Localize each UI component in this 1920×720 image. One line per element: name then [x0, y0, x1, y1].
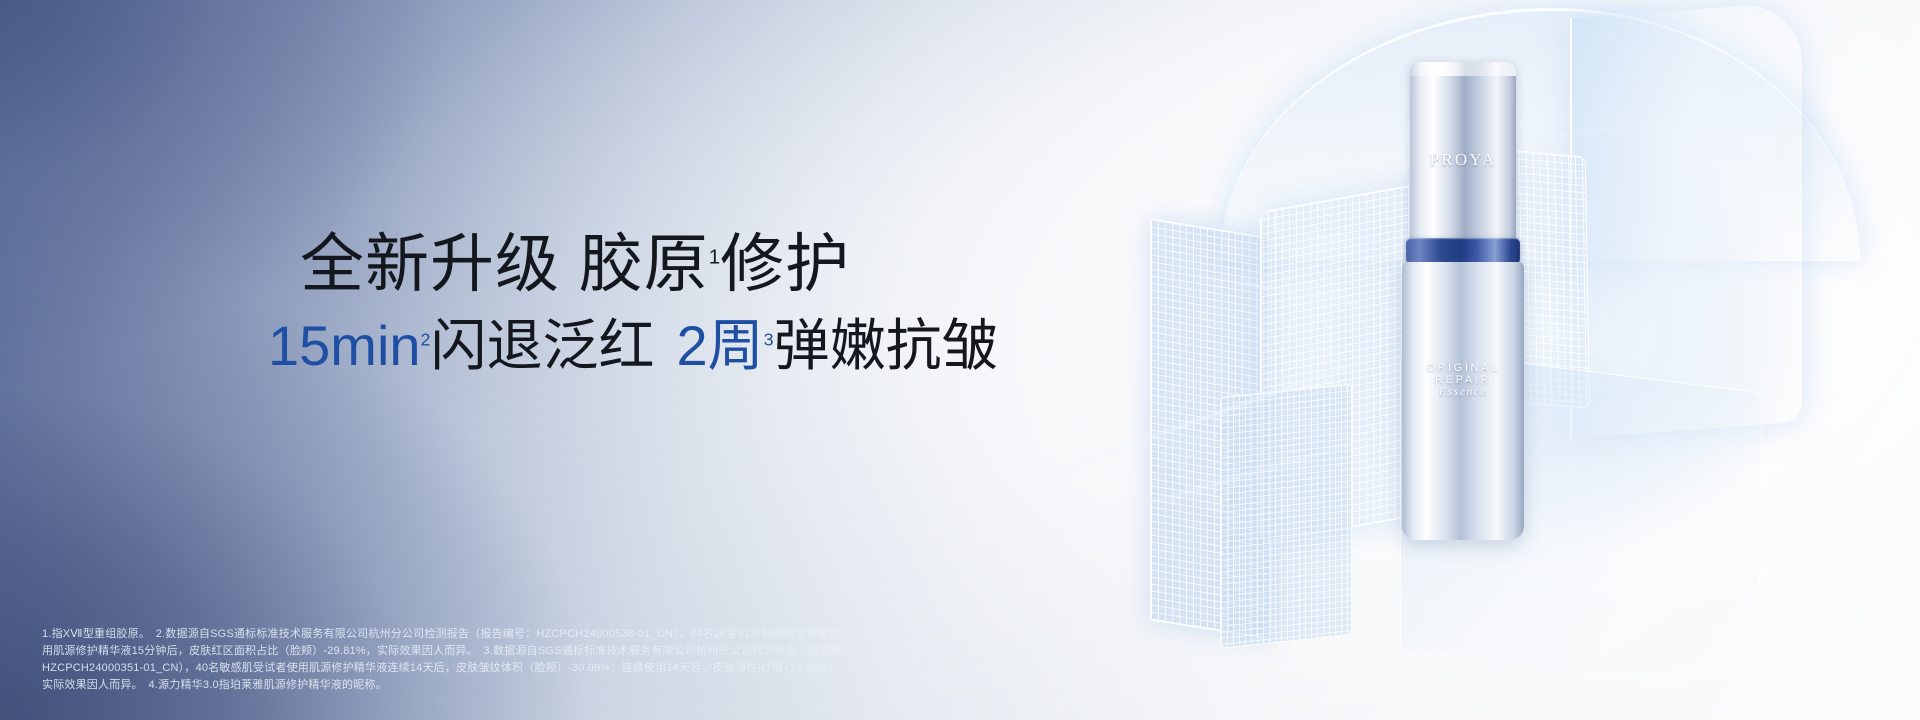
light-halo — [1220, 40, 1880, 680]
bottle-collar-band — [1406, 238, 1520, 264]
product-type-label: Essence — [1402, 384, 1524, 399]
headline-part-2: 修护 — [720, 228, 850, 300]
copy-block: 全新升级 胶原1修护 15min2闪退泛红2周3弹嫩抗皱 — [300, 232, 1100, 374]
headline-footnote-marker-1: 1 — [709, 246, 720, 269]
glass-arc-top — [1220, 8, 1860, 261]
glass-plate-lower-right — [1400, 348, 1762, 694]
mesh-ribbon-mid — [1260, 180, 1438, 543]
headline: 全新升级 胶原1修护 — [300, 232, 1100, 296]
subheadline-text-1: 闪退泛红 — [431, 314, 655, 377]
subheadline-text-2: 弹嫩抗皱 — [774, 314, 998, 377]
light-streak — [991, 393, 1530, 549]
light-streak — [1241, 113, 1758, 169]
subheadline-footnote-marker-2: 2 — [421, 329, 431, 349]
footnote-line-3: HZCPCH24000351-01_CN），40名敏感肌受试者使用肌源修护精华液… — [42, 660, 1102, 677]
bottle-cap-highlight — [1410, 62, 1516, 76]
footnote-line-2: 用肌源修护精华液15分钟后，皮肤红区面积占比（脸颊）-29.81%，实际效果因人… — [42, 643, 1102, 660]
promo-banner: PROYA ORIGINAL REPAIR Essence 全新升级 胶原1修护… — [0, 0, 1920, 720]
mesh-ribbon-left — [1150, 218, 1272, 639]
subheadline-accent-2: 2周 — [677, 314, 764, 377]
mesh-ribbon-upper — [1434, 143, 1590, 409]
subheadline: 15min2闪退泛红2周3弹嫩抗皱 — [268, 318, 1100, 374]
footnote-line-4: 实际效果因人而异。 4.源力精华3.0指珀莱雅肌源修护精华液的昵称。 — [42, 677, 1102, 694]
product-line-label: ORIGINAL REPAIR — [1402, 362, 1524, 386]
product-bottle: PROYA ORIGINAL REPAIR Essence — [1400, 62, 1526, 540]
footnotes-block: 1.指XⅦ型重组胶原。 2.数据源自SGS通标标准技术服务有限公司杭州分公司检测… — [42, 626, 1102, 694]
product-visual-stage: PROYA ORIGINAL REPAIR Essence — [1100, 0, 1920, 720]
brand-logo-text: PROYA — [1410, 150, 1516, 170]
glass-sheet-right — [1570, 2, 1802, 438]
footnote-line-1: 1.指XⅦ型重组胶原。 2.数据源自SGS通标标准技术服务有限公司杭州分公司检测… — [42, 626, 1102, 643]
subheadline-accent-1: 15min — [268, 314, 421, 377]
light-streak — [1133, 263, 1557, 340]
bottle-body — [1402, 262, 1524, 540]
mesh-block-lower-left — [1220, 383, 1352, 649]
headline-part-1: 全新升级 胶原 — [300, 228, 709, 300]
bottle-cap — [1410, 62, 1516, 240]
subheadline-footnote-marker-3: 3 — [764, 329, 774, 349]
